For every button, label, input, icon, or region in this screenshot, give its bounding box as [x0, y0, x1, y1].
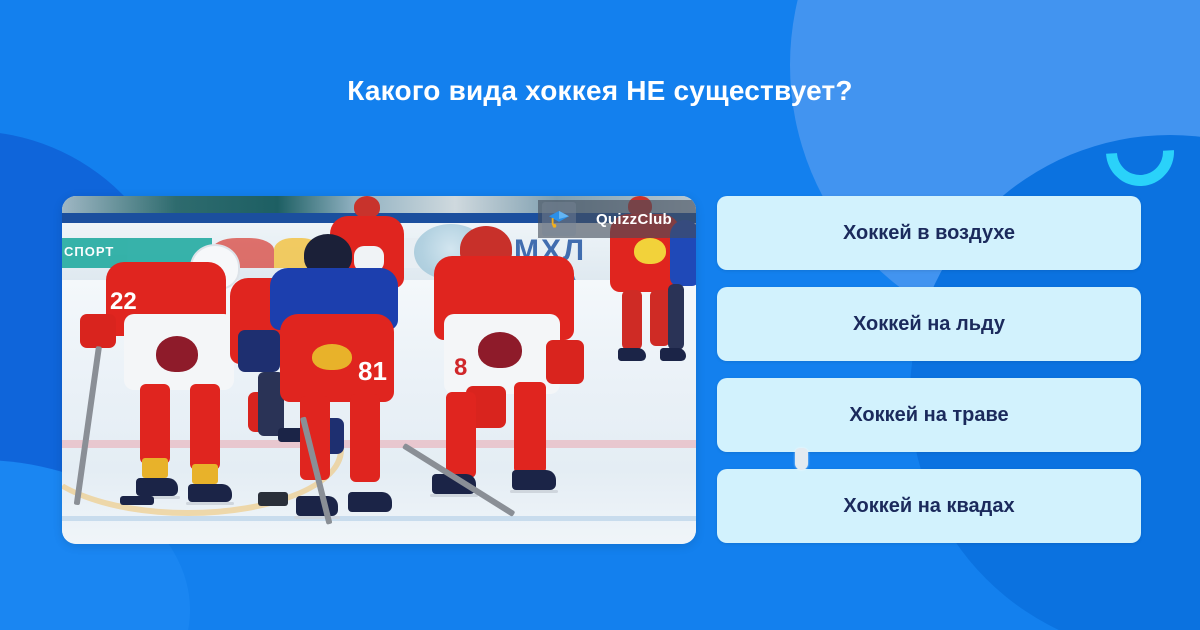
- rink-scene: СПОРТ МХЛ ЛИГА: [62, 196, 696, 544]
- watermark-label: QuizzClub: [582, 211, 696, 228]
- answer-options-list: Хоккей в воздухе Хоккей на льду Хоккей н…: [717, 196, 1141, 560]
- question-image: СПОРТ МХЛ ЛИГА: [62, 196, 696, 544]
- player-number-81: 81: [358, 356, 387, 387]
- answer-option-4[interactable]: Хоккей на квадах: [717, 469, 1141, 543]
- player-number-22: 22: [110, 288, 137, 316]
- answer-option-3[interactable]: Хоккей на траве: [717, 378, 1141, 452]
- answer-option-2[interactable]: Хоккей на льду: [717, 287, 1141, 361]
- arc-accent-icon: [1092, 104, 1188, 200]
- ice-blue-line: [62, 516, 696, 521]
- watermark-badge: QuizzClub: [538, 200, 696, 238]
- ad-banner-text: СПОРТ: [64, 244, 114, 259]
- graduation-cap-icon: [542, 202, 576, 236]
- quiz-card: Какого вида хоккея НЕ существует? СПОРТ …: [0, 0, 1200, 630]
- question-title: Какого вида хоккея НЕ существует?: [0, 72, 1200, 110]
- scroll-handle[interactable]: [795, 448, 808, 470]
- player-number-8: 8: [454, 354, 467, 382]
- answer-option-1[interactable]: Хоккей в воздухе: [717, 196, 1141, 270]
